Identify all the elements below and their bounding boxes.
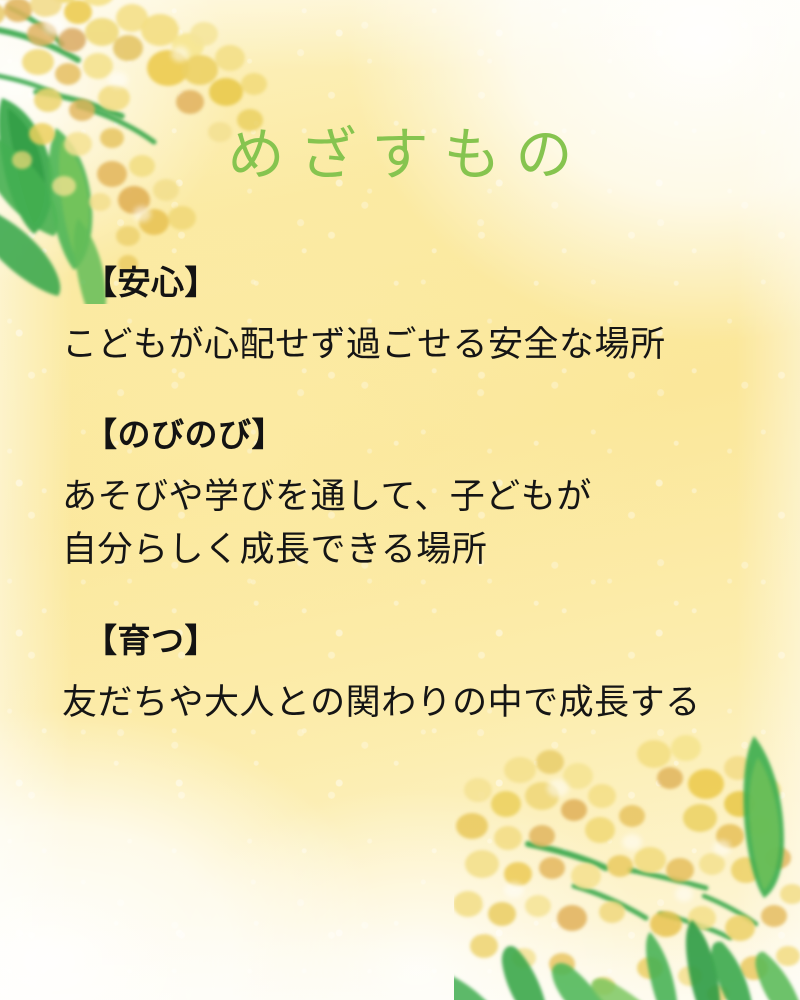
section-line: 自分らしく成長できる場所 (62, 524, 762, 577)
section-anshin: 【安心】 こどもが心配せず過ごせる安全な場所 (62, 266, 762, 372)
section-heading: 【安心】 (84, 266, 762, 299)
sections-list: 【安心】 こどもが心配せず過ごせる安全な場所 【のびのび】 あそびや学びを通して… (62, 266, 762, 730)
section-line: あそびや学びを通して、子どもが (62, 471, 762, 524)
section-line: こどもが心配せず過ごせる安全な場所 (62, 319, 762, 372)
page-title: めざすもの (0, 124, 800, 188)
section-line: 友だちや大人との関わりの中で成長する (62, 677, 762, 730)
poster-content: めざすもの 【安心】 こどもが心配せず過ごせる安全な場所 【のびのび】 あそびや… (0, 0, 800, 1000)
section-heading: 【育つ】 (84, 624, 762, 657)
poster-canvas: めざすもの 【安心】 こどもが心配せず過ごせる安全な場所 【のびのび】 あそびや… (0, 0, 800, 1000)
section-nobinobi: 【のびのび】 あそびや学びを通して、子どもが 自分らしく成長できる場所 (62, 418, 762, 577)
section-heading: 【のびのび】 (84, 418, 762, 451)
section-sodatsu: 【育つ】 友だちや大人との関わりの中で成長する (62, 624, 762, 730)
